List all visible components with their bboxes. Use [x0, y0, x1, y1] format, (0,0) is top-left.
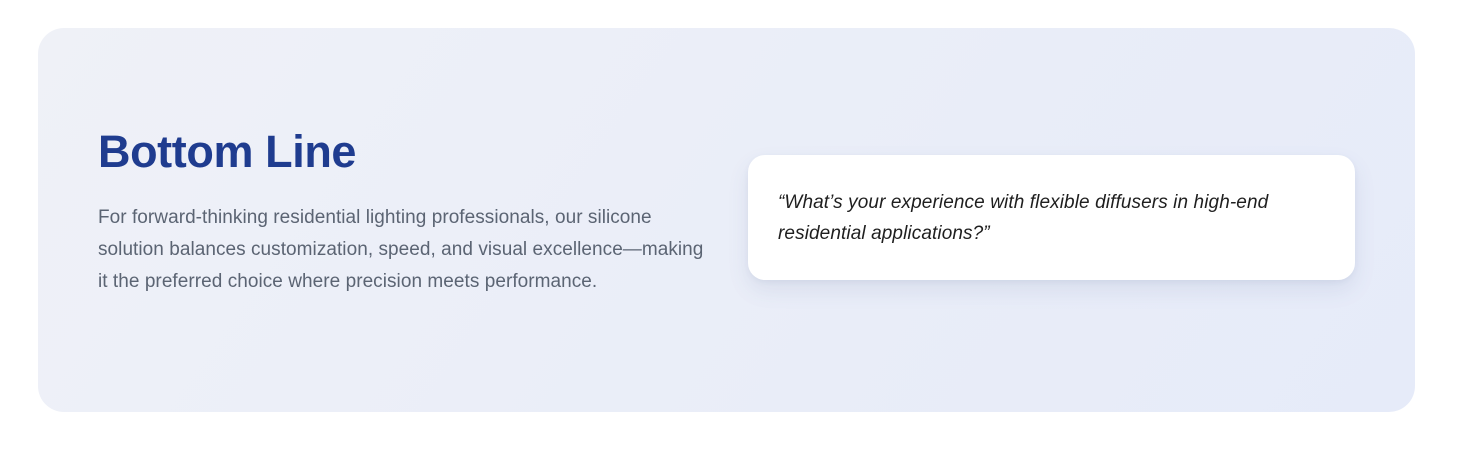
screenshot-stage: Bottom Line For forward-thinking residen…: [0, 0, 1457, 457]
page-title: Bottom Line: [98, 128, 718, 175]
bottom-line-body-text: For forward-thinking residential lightin…: [98, 175, 706, 298]
bottom-line-text-column: Bottom Line For forward-thinking residen…: [98, 128, 718, 298]
bottom-line-panel: Bottom Line For forward-thinking residen…: [38, 28, 1415, 412]
quote-card: “What’s your experience with flexible di…: [748, 155, 1355, 280]
quote-card-text: “What’s your experience with flexible di…: [748, 187, 1355, 249]
